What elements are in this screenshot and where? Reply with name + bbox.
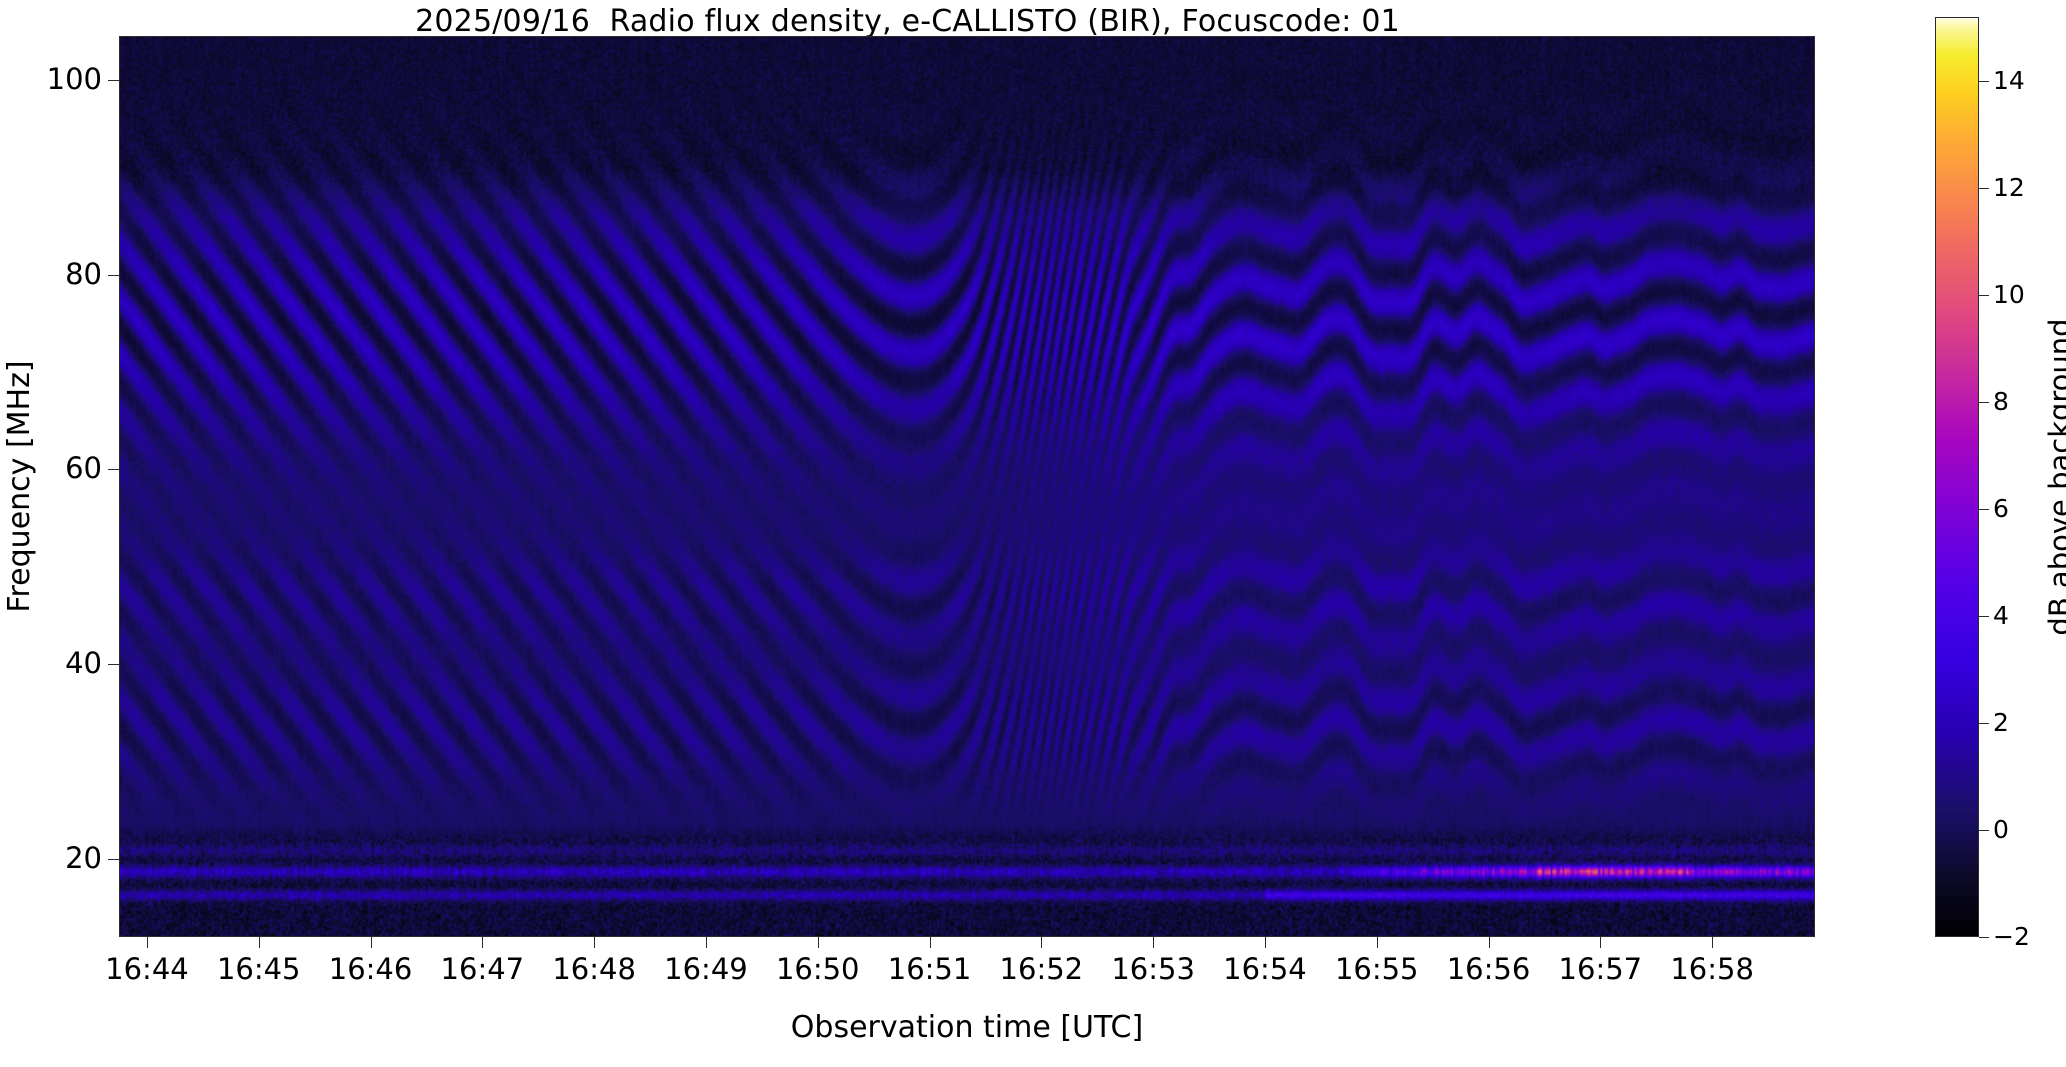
colorbar-tick-mark [1979, 402, 1989, 403]
colorbar-tick-mark [1979, 723, 1989, 724]
x-tick-label: 16:58 [1632, 952, 1792, 986]
spectrogram-axes[interactable] [119, 36, 1815, 937]
x-tick-mark [706, 937, 707, 948]
y-tick-label: 20 [0, 844, 102, 873]
colorbar-tick-mark [1979, 937, 1989, 938]
y-tick-label: 60 [0, 454, 102, 483]
chart-title: 2025/09/16 Radio flux density, e-CALLIST… [0, 4, 1815, 39]
x-tick-mark [1265, 937, 1266, 948]
colorbar[interactable] [1935, 17, 1979, 937]
colorbar-tick-mark [1979, 616, 1989, 617]
x-tick-mark [930, 937, 931, 948]
figure-root: 2025/09/16 Radio flux density, e-CALLIST… [0, 0, 2066, 1067]
y-tick-label: 80 [0, 260, 102, 289]
x-tick-mark [1041, 937, 1042, 948]
colorbar-tick-mark [1979, 509, 1989, 510]
x-tick-mark [371, 937, 372, 948]
x-tick-mark [259, 937, 260, 948]
colorbar-label: dB above background [2040, 17, 2066, 937]
colorbar-tick-mark [1979, 830, 1989, 831]
x-tick-mark [1489, 937, 1490, 948]
spectrogram-image [120, 37, 1814, 936]
x-tick-mark [147, 937, 148, 948]
y-axis-label: Frequency [MHz] [0, 36, 40, 937]
x-axis-label: Observation time [UTC] [119, 1010, 1815, 1045]
y-tick-label: 100 [0, 65, 102, 94]
colorbar-tick-mark [1979, 188, 1989, 189]
x-tick-mark [1712, 937, 1713, 948]
x-tick-mark [594, 937, 595, 948]
y-tick-mark [108, 80, 119, 81]
x-tick-mark [818, 937, 819, 948]
y-tick-mark [108, 859, 119, 860]
y-tick-mark [108, 275, 119, 276]
x-tick-mark [1377, 937, 1378, 948]
x-tick-mark [1600, 937, 1601, 948]
x-tick-mark [482, 937, 483, 948]
spectrogram-canvas-host [120, 37, 1814, 936]
colorbar-tick-mark [1979, 81, 1989, 82]
x-tick-mark [1153, 937, 1154, 948]
y-tick-mark [108, 664, 119, 665]
colorbar-tick-mark [1979, 295, 1989, 296]
y-tick-mark [108, 469, 119, 470]
y-tick-label: 40 [0, 649, 102, 678]
